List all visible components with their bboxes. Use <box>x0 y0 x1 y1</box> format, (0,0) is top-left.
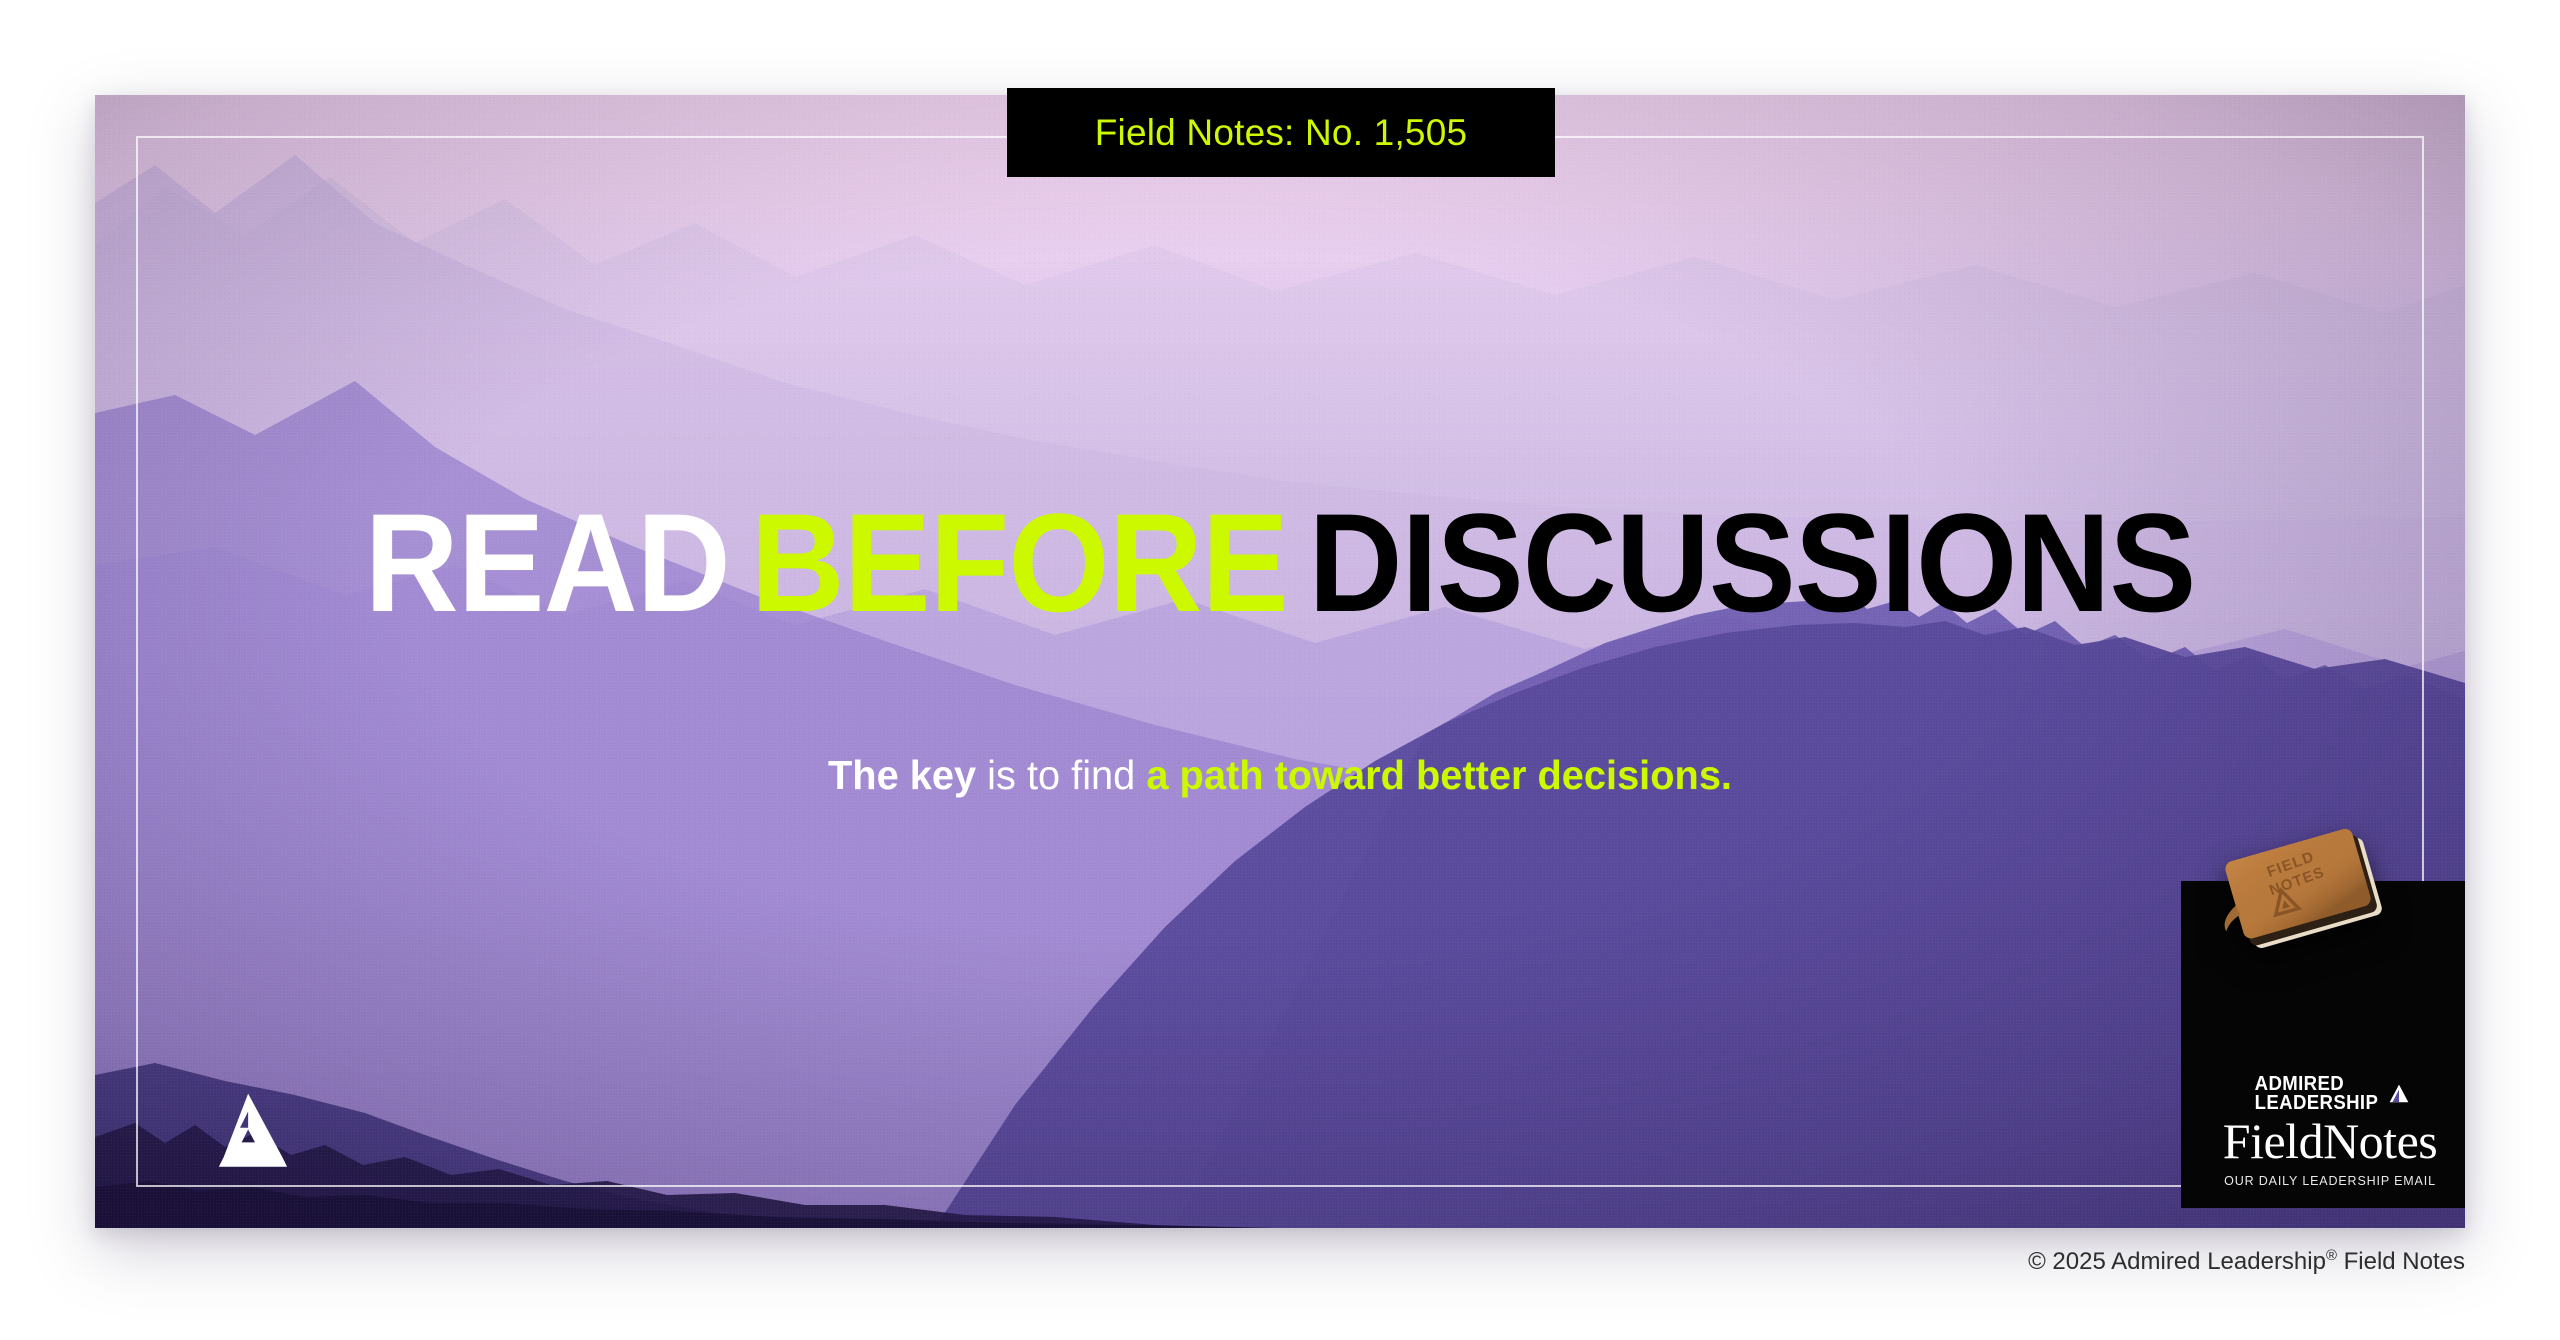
subtitle-middle: is to find <box>987 752 1135 798</box>
copyright-suffix: Field Notes <box>2344 1248 2465 1275</box>
page-title: READBEFOREDISCUSSIONS <box>178 493 2382 633</box>
promo-card[interactable]: FIELD NOTES <box>2181 881 2465 1208</box>
brand-line-1: ADMIRED <box>2255 1075 2379 1095</box>
brand-name: ADMIRED LEADERSHIP <box>2255 1075 2379 1114</box>
subtitle-highlight: a path toward better decisions. <box>1146 752 1732 798</box>
admired-leadership-monogram-icon <box>212 1092 294 1170</box>
headline-word-discussions: DISCUSSIONS <box>1308 493 2195 633</box>
promo-title: FieldNotes <box>2181 1116 2465 1167</box>
copyright-prefix: © 2025 Admired Leadership <box>2028 1248 2326 1275</box>
brand-lockup-top: ADMIRED LEADERSHIP <box>2181 1075 2465 1114</box>
brand-line-2: LEADERSHIP <box>2255 1094 2379 1114</box>
issue-number-badge: Field Notes: No. 1,505 <box>1007 88 1555 177</box>
promo-lockup: ADMIRED LEADERSHIP FieldNotes OUR DAILY … <box>2181 1075 2465 1188</box>
field-notes-book-icon: FIELD NOTES <box>2209 813 2409 973</box>
subtitle: The key is to find a path toward better … <box>131 753 2430 798</box>
mountain-landscape <box>95 95 2465 1228</box>
subtitle-lead: The key <box>828 752 976 798</box>
promo-tagline: OUR DAILY LEADERSHIP EMAIL <box>2181 1174 2465 1188</box>
hero-card: READBEFOREDISCUSSIONS The key is to find… <box>95 95 2465 1228</box>
headline-word-read: READ <box>365 493 730 633</box>
headline-word-before: BEFORE <box>751 493 1288 633</box>
page-root: READBEFOREDISCUSSIONS The key is to find… <box>0 0 2560 1340</box>
issue-number-label: Field Notes: No. 1,505 <box>1095 112 1468 154</box>
triangle-logo-icon <box>2388 1083 2410 1105</box>
footer-copyright: © 2025 Admired Leadership® Field Notes <box>2028 1248 2465 1276</box>
ridge-layer-foreground <box>95 95 2465 1228</box>
registered-mark: ® <box>2326 1248 2337 1264</box>
